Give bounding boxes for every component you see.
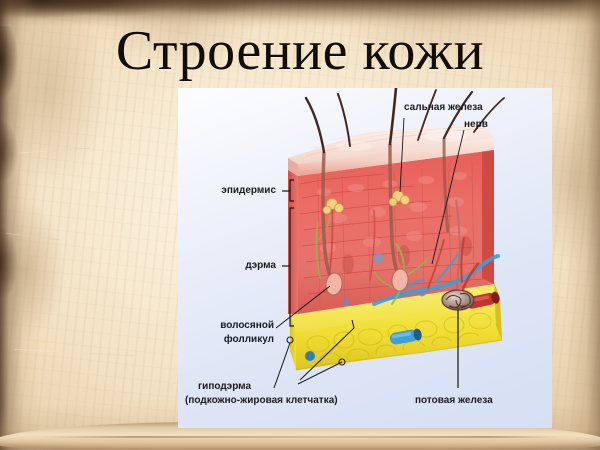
slide-root: Строение кожи bbox=[0, 0, 600, 450]
skin-diagram-svg bbox=[178, 88, 552, 428]
page-title: Строение кожи bbox=[0, 20, 600, 82]
label-dermis: дэрма bbox=[178, 260, 276, 272]
label-hair-follicle-line1: волосяной bbox=[178, 320, 274, 332]
skin-diagram-panel: эпидермис дэрма волосяной фолликул гипод… bbox=[178, 88, 552, 428]
vessel-cut-dot bbox=[305, 351, 315, 361]
label-epidermis: эпидермис bbox=[178, 185, 276, 197]
label-hypodermis-line2: (подкожно-жировая клетчатка) bbox=[185, 395, 338, 407]
hypodermis-leader-3 bbox=[274, 343, 290, 388]
label-hypodermis-line1: гиподэрма bbox=[198, 381, 251, 393]
label-sebaceous-gland: сальная железа bbox=[404, 102, 483, 114]
parchment-roll-seam bbox=[40, 436, 560, 438]
skin-block-3d bbox=[274, 88, 504, 388]
label-nerve: нерв bbox=[464, 119, 488, 131]
label-hair-follicle-line2: фолликул bbox=[178, 334, 274, 346]
label-sweat-gland: потовая железа bbox=[415, 395, 493, 407]
